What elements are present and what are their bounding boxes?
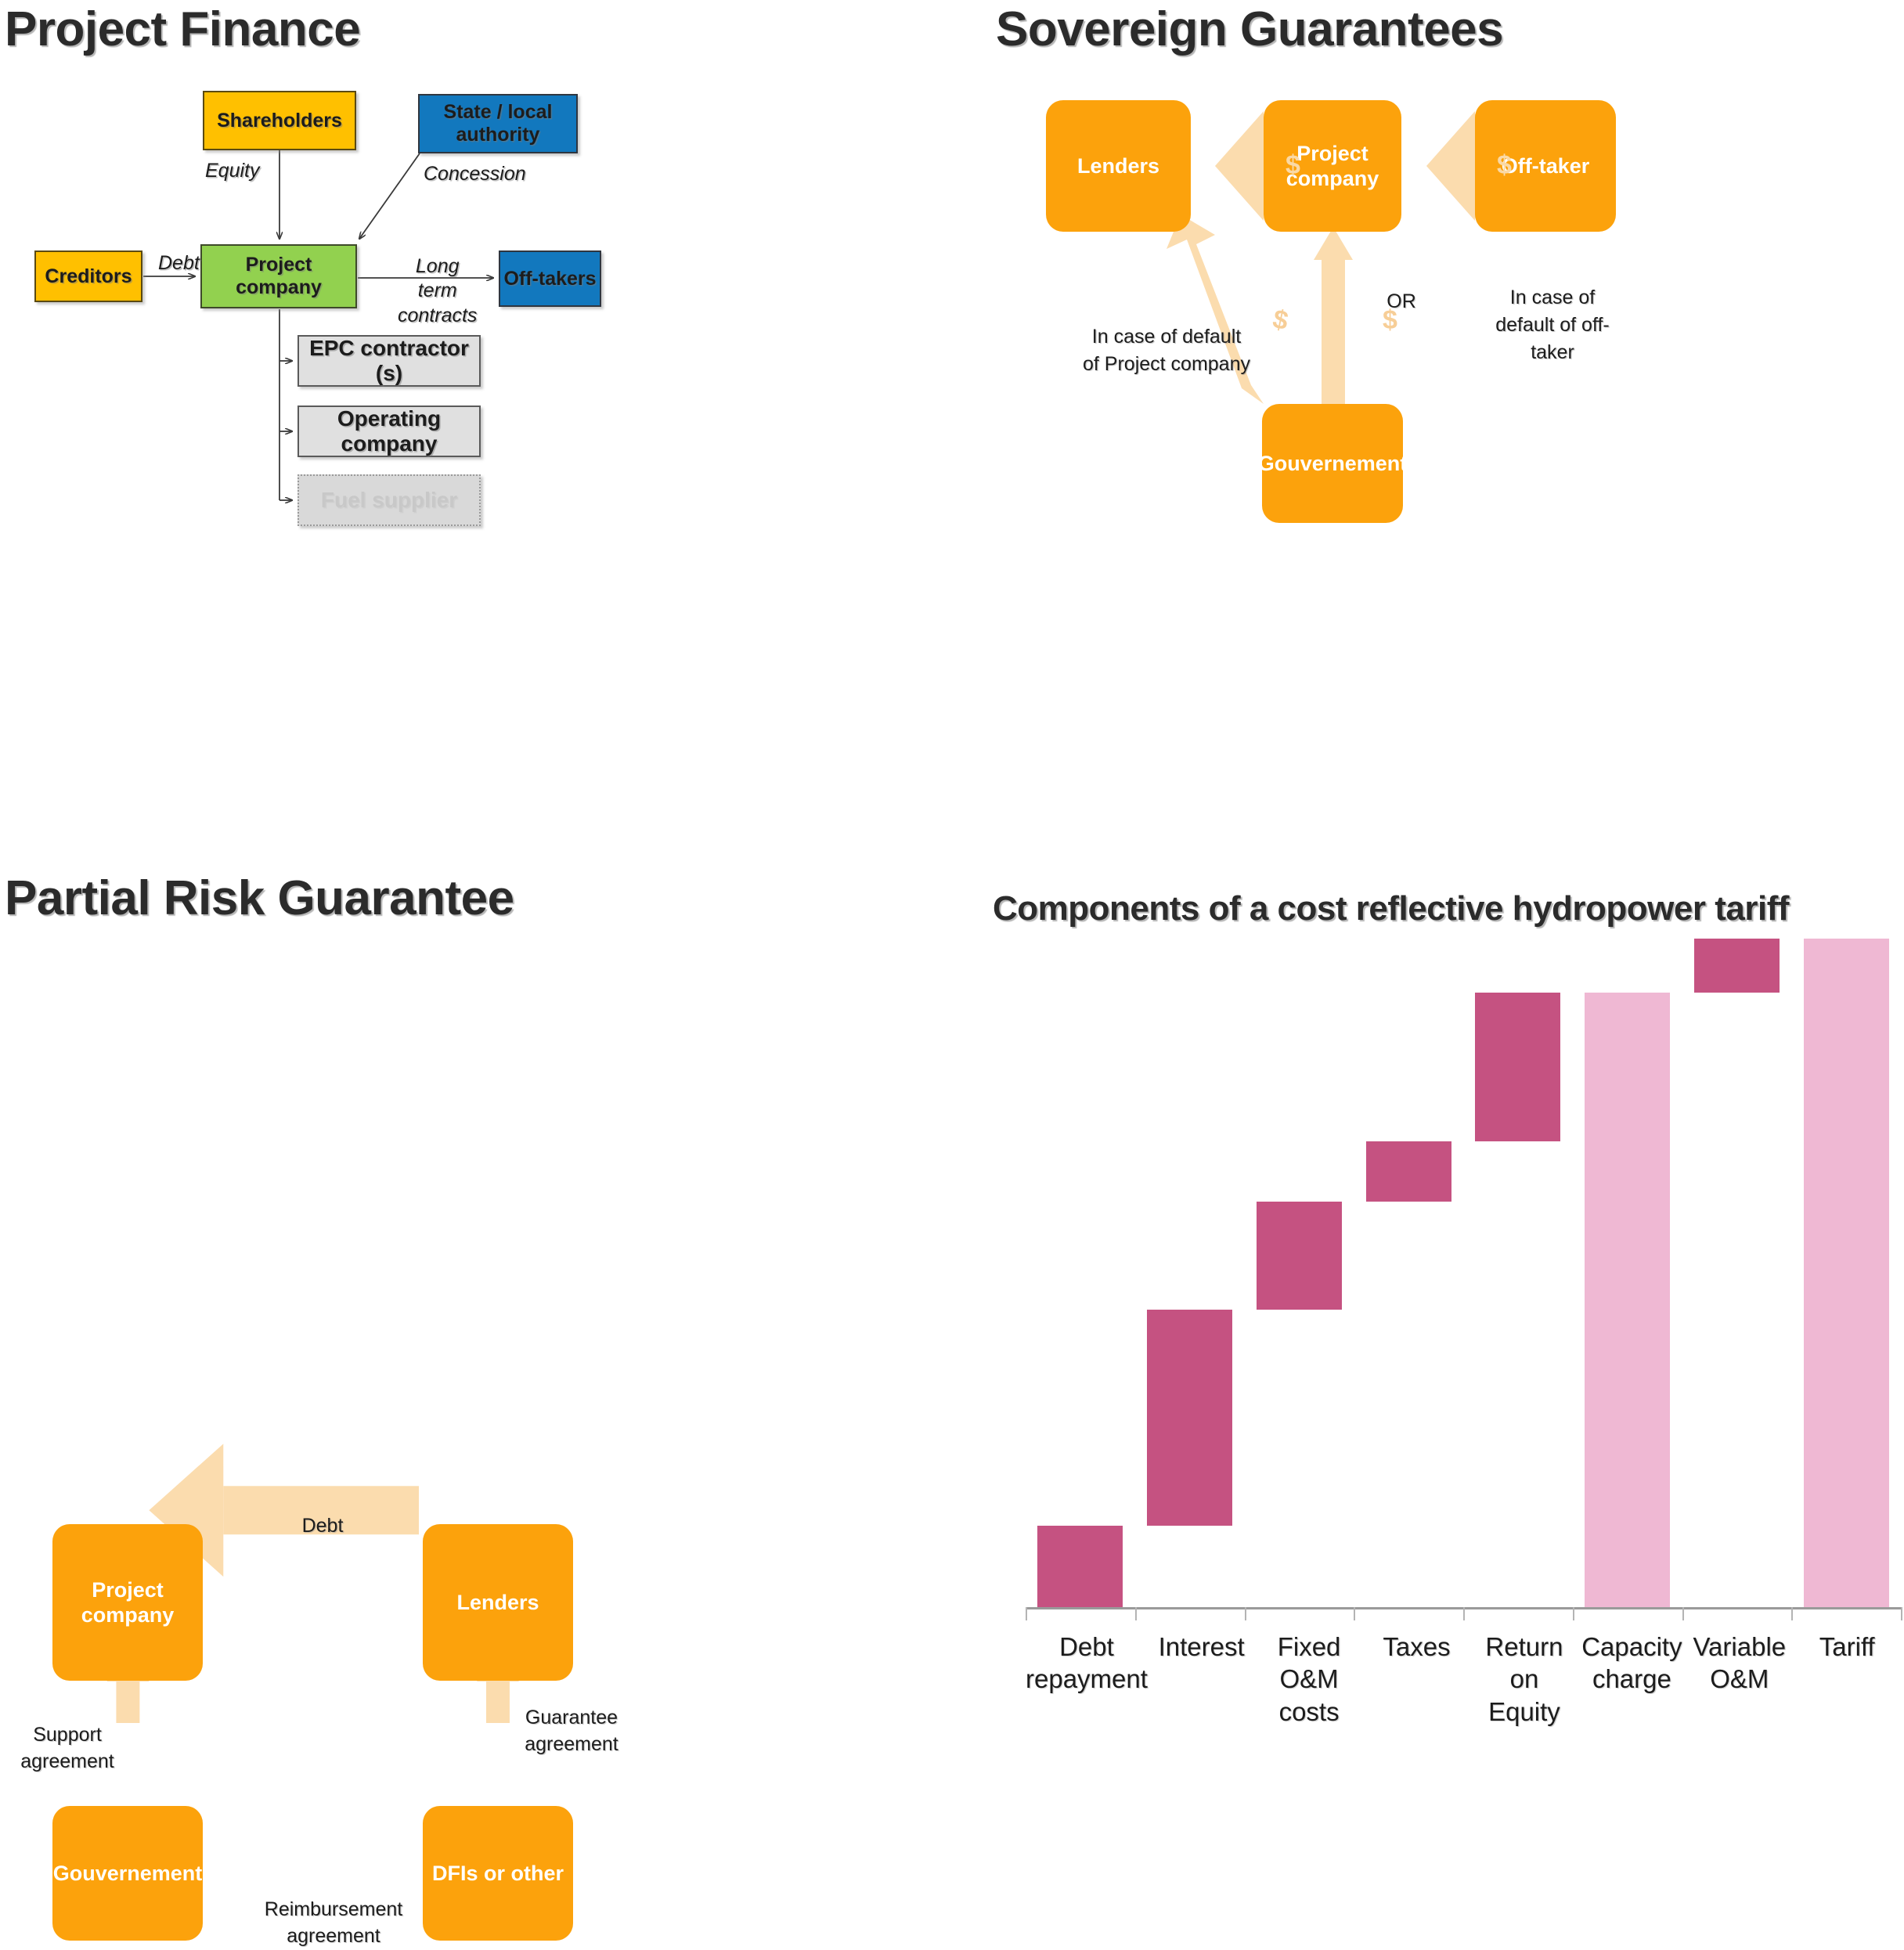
label-default-project-company: In case of default of Project company — [1080, 323, 1253, 378]
node-prg-lenders[interactable]: Lenders — [423, 1524, 573, 1681]
arrow-gouvernement-to-project — [1314, 227, 1353, 405]
node-shareholders[interactable]: Shareholders — [203, 91, 356, 150]
x-axis-tick — [1463, 1607, 1465, 1620]
waterfall-bar — [1147, 1310, 1232, 1526]
x-axis-category-labels: Debt repaymentInterestFixed O&M costsTax… — [1026, 1631, 1901, 1728]
x-axis-tick — [1901, 1607, 1902, 1620]
node-epc-contractor[interactable]: EPC contractor (s) — [297, 335, 481, 387]
waterfall-bar — [1694, 939, 1780, 993]
node-prg-project-company[interactable]: Project company — [52, 1524, 203, 1681]
node-fuel-supplier[interactable]: Fuel supplier — [297, 474, 481, 526]
node-state-local-authority[interactable]: State / local authority — [418, 94, 578, 153]
label-prg-support-agreement: Support agreement — [13, 1722, 122, 1775]
dollar-icon-project-to-lenders: $ — [1286, 150, 1300, 181]
x-axis-tick — [1682, 1607, 1684, 1620]
waterfall-bar — [1366, 1141, 1451, 1202]
x-axis-tick — [1354, 1607, 1355, 1620]
chart-title: Components of a cost reflective hydropow… — [993, 889, 1789, 928]
sovereign-arrows — [952, 0, 1904, 548]
waterfall-bar — [1804, 939, 1889, 1607]
node-prg-gouvernement[interactable]: Gouvernement — [52, 1806, 203, 1941]
x-axis-tick — [1791, 1607, 1793, 1620]
x-axis-tick — [1573, 1607, 1574, 1620]
waterfall-chart: Debt repaymentInterestFixed O&M costsTax… — [979, 932, 1904, 1723]
label-or: OR — [1378, 288, 1425, 315]
x-axis-tick — [1245, 1607, 1246, 1620]
x-axis-tick-label: Return on Equity — [1470, 1631, 1578, 1728]
node-sg-offtaker[interactable]: Off-taker — [1475, 100, 1616, 232]
label-default-offtaker: In case of default of off- taker — [1482, 284, 1623, 366]
node-offtakers[interactable]: Off-takers — [499, 251, 601, 307]
edge-label-long-term-contracts: Long term contracts — [398, 254, 477, 328]
node-prg-dfis[interactable]: DFIs or other — [423, 1806, 573, 1941]
x-axis-tick-label: Debt repayment — [1026, 1631, 1148, 1728]
edge-label-concession: Concession — [424, 163, 526, 186]
x-axis-tick-label: Variable O&M — [1686, 1631, 1793, 1728]
node-creditors[interactable]: Creditors — [34, 251, 142, 302]
x-axis-tick-label: Taxes — [1363, 1631, 1470, 1728]
x-axis-tick-label: Interest — [1148, 1631, 1255, 1728]
label-prg-debt: Debt — [276, 1513, 370, 1540]
waterfall-bar — [1585, 993, 1670, 1607]
x-axis-tick-label: Tariff — [1794, 1631, 1901, 1728]
x-axis-tick — [1026, 1607, 1027, 1620]
waterfall-bar — [1257, 1202, 1342, 1310]
edge-label-debt: Debt — [158, 252, 200, 275]
x-axis-tick — [1135, 1607, 1137, 1620]
waterfall-bar — [1475, 993, 1560, 1141]
x-axis-tick-label: Capacity charge — [1578, 1631, 1686, 1728]
node-sg-project-company[interactable]: Project company — [1264, 100, 1401, 232]
node-project-company[interactable]: Project company — [200, 244, 357, 308]
page-title-project-finance: Project Finance — [5, 2, 360, 57]
chart-plot-area — [1026, 932, 1901, 1607]
label-prg-guarantee-agreement: Guarantee agreement — [513, 1705, 630, 1758]
node-sg-lenders[interactable]: Lenders — [1046, 100, 1191, 232]
node-operating-company[interactable]: Operating company — [297, 405, 481, 457]
node-sg-gouvernement[interactable]: Gouvernement — [1262, 404, 1403, 523]
dollar-icon-offtaker-to-project: $ — [1497, 150, 1512, 181]
x-axis-tick-label: Fixed O&M costs — [1255, 1631, 1362, 1728]
label-prg-reimbursement-agreement: Reimbursement agreement — [247, 1897, 420, 1950]
waterfall-bar — [1037, 1526, 1123, 1607]
edge-label-equity: Equity — [205, 160, 259, 182]
